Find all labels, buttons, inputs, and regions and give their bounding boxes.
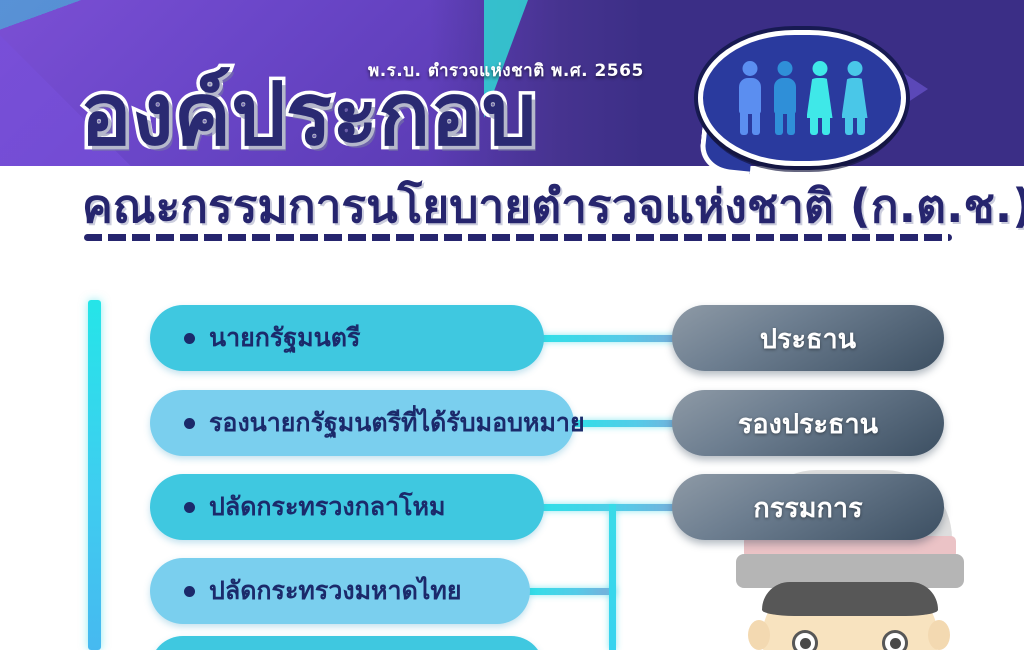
bullet-dot-icon (184, 418, 195, 429)
member-pill-1[interactable]: นายกรัฐมนตรี (150, 305, 544, 371)
connector-trunk-vertical (609, 504, 616, 650)
infographic-root: พ.ร.บ. ตำรวจแห่งชาติ พ.ศ. 2565 องค์ประกอ… (0, 0, 1024, 650)
page-subtitle: คณะกรรมการนโยบายตำรวจแห่งชาติ (ก.ต.ช.) (82, 183, 1024, 229)
left-accent-bar (88, 300, 101, 650)
member-pill-3[interactable]: ปลัดกระทรวงกลาโหม (150, 474, 544, 540)
role-label-3: กรรมการ (753, 486, 862, 529)
subtitle-underline (84, 234, 952, 241)
person-male-2-icon (772, 61, 798, 135)
member-pill-2[interactable]: รองนายกรัฐมนตรีที่ได้รับมอบหมาย (150, 390, 574, 456)
people-speech-bubble (698, 30, 906, 166)
bullet-dot-icon (184, 333, 195, 344)
person-female-1-icon (807, 61, 833, 135)
bullet-dot-icon (184, 502, 195, 513)
connector-line-1 (540, 335, 690, 342)
person-male-1-icon (737, 61, 763, 135)
role-pill-vice-chairman[interactable]: รองประธาน (672, 390, 944, 456)
connector-line-4 (528, 588, 616, 595)
bullet-dot-icon (184, 586, 195, 597)
role-pill-chairman[interactable]: ประธาน (672, 305, 944, 371)
person-female-2-icon (842, 61, 868, 135)
member-label-1: นายกรัฐมนตรี (209, 318, 360, 358)
member-pill-4[interactable]: ปลัดกระทรวงมหาดไทย (150, 558, 530, 624)
member-pill-5[interactable] (150, 636, 544, 650)
role-label-1: ประธาน (760, 317, 856, 360)
member-label-2: รองนายกรัฐมนตรีที่ได้รับมอบหมาย (209, 403, 585, 443)
member-label-4: ปลัดกระทรวงมหาดไทย (209, 571, 462, 611)
role-pill-committee-member[interactable]: กรรมการ (672, 474, 944, 540)
act-caption: พ.ร.บ. ตำรวจแห่งชาติ พ.ศ. 2565 (368, 57, 644, 84)
role-label-2: รองประธาน (738, 402, 878, 445)
page-title: องค์ประกอบ (80, 72, 536, 158)
member-label-3: ปลัดกระทรวงกลาโหม (209, 487, 445, 527)
